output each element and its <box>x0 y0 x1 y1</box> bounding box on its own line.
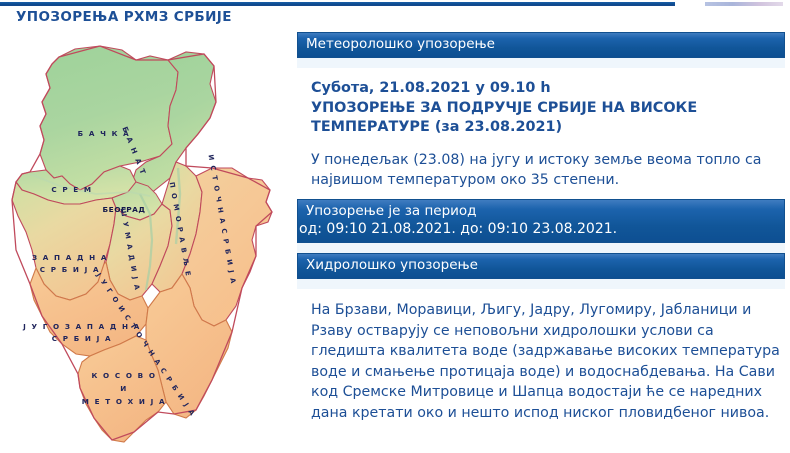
meteo-lead-line2: УПОЗОРЕЊЕ ЗА ПОДРУЧЈЕ СРБИЈЕ НА ВИСОКЕ <box>311 99 781 118</box>
map-label-kosovo-line1: К О С О В О <box>91 371 156 380</box>
map-label-zapadna-srbija-line1: З А П А Д Н А <box>32 253 108 262</box>
serbia-map-svg: Б А Ч К А Б А Н А Т С Р Е М БЕОГРАД З А … <box>0 44 292 453</box>
period-banner-line1: Упозорење је за период <box>306 203 783 220</box>
map-label-zapadna-srbija-line2: С Р Б И Ј А <box>40 265 100 274</box>
map-label-kosovo-line3: М Е Т О Х И Ј А <box>82 397 166 406</box>
map-label-jugozapadna-srbija-line1: Ј У Г О З А П А Д Н А <box>22 322 141 331</box>
hydro-text: На Брзави, Моравици, Љигу, Јадру, Лугоми… <box>297 289 785 433</box>
hydro-banner-underline <box>297 279 785 289</box>
warnings-column: Метеоролошко упозорење Субота, 21.08.202… <box>297 32 785 432</box>
meteo-warning-banner[interactable]: Метеоролошко упозорење <box>297 32 785 58</box>
map-label-srem: С Р Е М <box>51 185 92 194</box>
period-banner-underline <box>297 243 785 253</box>
map-label-kosovo-line2: И <box>120 384 128 393</box>
period-banner-line2: од: 09:10 21.08.2021. до: 09:10 23.08.20… <box>299 221 783 239</box>
meteo-lead-line3: ТЕМПЕРАТУРЕ (за 23.08.2021) <box>311 118 781 137</box>
hydro-warning-banner-label: Хидролошко упозорење <box>306 257 478 273</box>
serbia-map[interactable]: Б А Ч К А Б А Н А Т С Р Е М БЕОГРАД З А … <box>0 44 292 453</box>
period-banner[interactable]: Упозорење је за период од: 09:10 21.08.2… <box>297 199 785 242</box>
meteo-warning-banner-label: Метеоролошко упозорење <box>306 36 495 52</box>
meteo-lead: Субота, 21.08.2021 у 09.10 h УПОЗОРЕЊЕ З… <box>297 68 785 137</box>
top-rule <box>0 2 675 6</box>
hydro-warning-banner[interactable]: Хидролошко упозорење <box>297 253 785 279</box>
meteo-text: У понедељак (23.08) на југу и истоку зем… <box>297 137 785 199</box>
meteo-lead-line1: Субота, 21.08.2021 у 09.10 h <box>311 79 781 98</box>
map-label-jugozapadna-srbija-line2: С Р Б И Ј А <box>52 334 112 343</box>
warning-page: УПОЗОРЕЊА РХМЗ СРБИЈЕ <box>0 0 790 453</box>
page-title: УПОЗОРЕЊА РХМЗ СРБИЈЕ <box>16 9 232 25</box>
meteo-banner-underline <box>297 58 785 68</box>
top-rule-faded-segment <box>705 2 783 6</box>
